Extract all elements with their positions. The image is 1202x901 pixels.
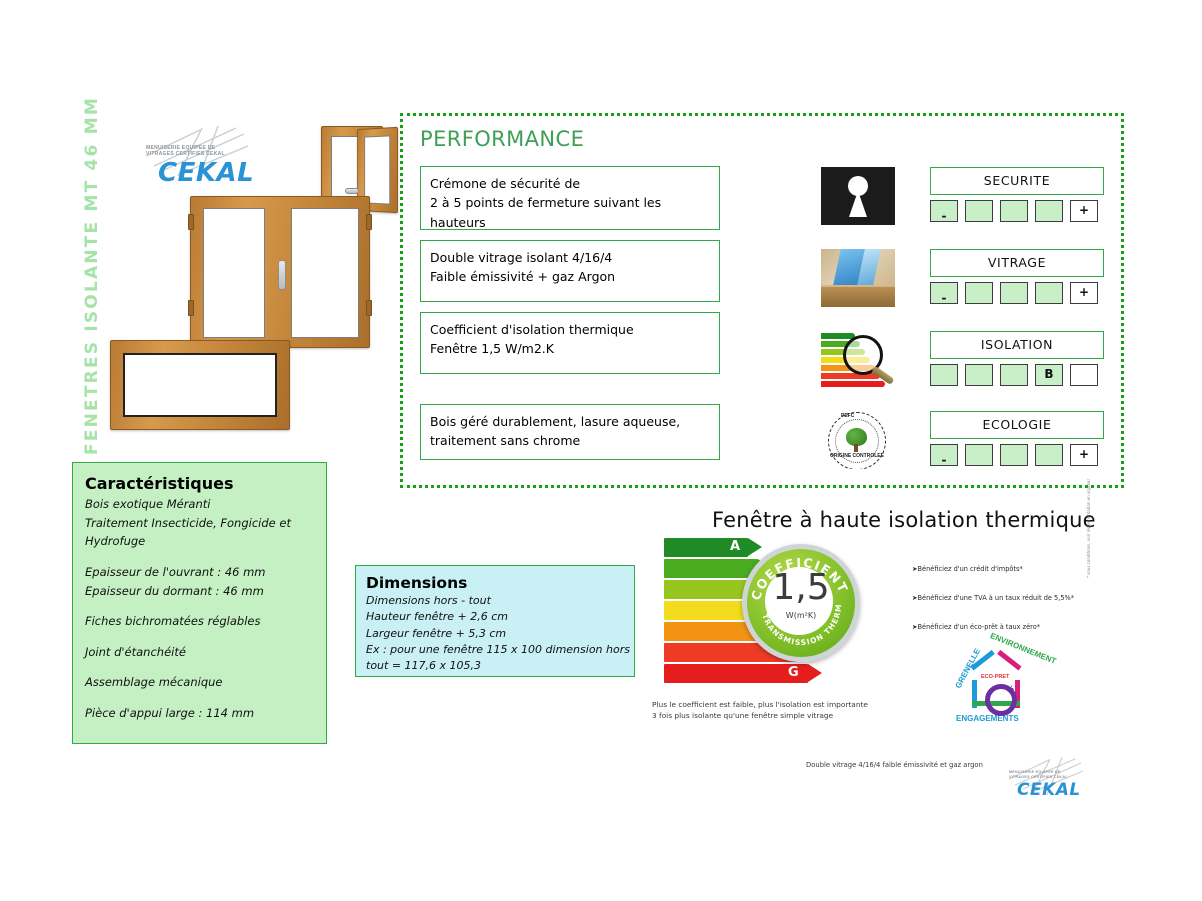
eco-pret-label: ECO-PRET <box>981 674 1009 680</box>
caracteristiques-line: Pièce d'appui large : 114 mm <box>85 704 314 723</box>
dimensions-line: Largeur fenêtre + 5,3 cm <box>366 626 624 642</box>
grenelle-environnement-badge-icon: GRENELLE ENVIRONNEMENT ENGAGEMENTS ECO-P… <box>948 646 1044 732</box>
rating-cell[interactable] <box>1035 444 1063 466</box>
legal-footnote-vertical: * sous conditions, voir réglementation e… <box>1086 479 1091 578</box>
performance-title: PERFORMANCE <box>420 127 584 151</box>
performance-box-2-line-2: Faible émissivité + gaz Argon <box>430 267 710 286</box>
logo-subline-1: MENUISERIE EQUIPEE DE <box>1009 770 1061 774</box>
eco-tree-badge-icon: PEFC ORIGINE CONTROLEE <box>821 411 895 469</box>
caracteristiques-line: Bois exotique Méranti <box>85 495 314 514</box>
logo-subline-1: MENUISERIE EQUIPEE DE <box>146 145 215 151</box>
performance-box-1: Crémone de sécurité de 2 à 5 points de f… <box>420 166 720 230</box>
performance-box-2-line-1: Double vitrage isolant 4/16/4 <box>430 248 710 267</box>
caracteristiques-line: Assemblage mécanique <box>85 673 314 692</box>
dimensions-line: Hauteur fenêtre + 2,6 cm <box>366 609 624 625</box>
logo-wordmark: CEKAL <box>1017 780 1081 800</box>
caracteristiques-line: Fiches bichromatées réglables <box>85 612 314 631</box>
performance-box-3-line-1: Coefficient d'isolation thermique <box>430 320 710 339</box>
cekal-logo-top: MENUISERIE EQUIPEE DE VITRAGES CERTIFIES… <box>140 126 250 188</box>
vertical-product-title-text: FENETRES ISOLANTE MT 46 MM <box>82 115 102 455</box>
performance-box-1-line-1: Crémone de sécurité de <box>430 174 710 193</box>
rating-cell[interactable] <box>930 364 958 386</box>
rating-cell[interactable] <box>1000 444 1028 466</box>
lock-icon <box>821 167 895 225</box>
performance-box-2: Double vitrage isolant 4/16/4 Faible émi… <box>420 240 720 302</box>
rating-cell[interactable] <box>965 364 993 386</box>
rating-cell[interactable] <box>965 282 993 304</box>
energy-caption: Plus le coefficient est faible, plus l'i… <box>652 699 868 721</box>
performance-box-4: Bois géré durablement, lasure aqueuse, t… <box>420 404 720 460</box>
window-handle-small <box>345 188 359 194</box>
performance-box-3: Coefficient d'isolation thermique Fenêtr… <box>420 312 720 374</box>
energy-magnifier-icon <box>821 331 895 389</box>
benefit-item: ➤Bénéficiez d'un crédit d'impôts* <box>912 565 1074 575</box>
window-photo-transom <box>110 340 290 430</box>
window-hinge-right-bottom <box>366 300 372 316</box>
caracteristiques-card: Caractéristiques Bois exotique Méranti T… <box>72 462 327 744</box>
rating-cell[interactable]: - <box>930 444 958 466</box>
rating-cell[interactable]: - <box>930 282 958 304</box>
coefficient-magnifier: COEFFICIENT TRANSMISSION THERMIQUE 1,5 W… <box>742 544 860 662</box>
coefficient-value: 1,5 <box>747 567 855 608</box>
dimensions-line: Dimensions hors - tout <box>366 593 624 609</box>
rating-cell[interactable] <box>965 444 993 466</box>
performance-box-4-line-2: traitement sans chrome <box>430 431 710 450</box>
rating-isolation-cells[interactable]: B <box>930 364 1098 386</box>
rating-cell[interactable] <box>965 200 993 222</box>
performance-panel: PERFORMANCE Crémone de sécurité de 2 à 5… <box>400 113 1124 488</box>
dimensions-line: tout = 117,6 x 105,3 <box>366 658 624 674</box>
grenelle-word-bottom: ENGAGEMENTS <box>956 714 1019 723</box>
performance-box-4-line-1: Bois géré durablement, lasure aqueuse, <box>430 412 710 431</box>
cekal-logo-bottom: MENUISERIE EQUIPEE DE VITRAGES CERTIFIES… <box>1005 757 1085 801</box>
dimensions-title: Dimensions <box>366 574 624 592</box>
caracteristiques-line: Epaisseur du dormant : 46 mm <box>85 582 314 601</box>
rating-vitrage-cells[interactable]: - + <box>930 282 1098 304</box>
performance-box-1-line-2: 2 à 5 points de fermeture suivant les <box>430 193 710 212</box>
energy-caption-line-1: Plus le coefficient est faible, plus l'i… <box>652 699 868 710</box>
energy-bar-letter: G <box>788 665 799 680</box>
window-hinge-bottom <box>188 300 194 316</box>
rating-securite-cells[interactable]: - + <box>930 200 1098 222</box>
energy-bar-letter: A <box>730 539 740 554</box>
caracteristiques-line: Traitement Insecticide, Fongicide et <box>85 514 314 533</box>
rating-ecologie-label: ECOLOGIE <box>930 411 1104 439</box>
caracteristiques-line: Epaisseur de l'ouvrant : 46 mm <box>85 563 314 582</box>
caracteristiques-title: Caractéristiques <box>85 474 314 493</box>
window-hinge-top <box>188 214 194 230</box>
rating-cell[interactable] <box>1000 364 1028 386</box>
performance-box-1-line-3: hauteurs <box>430 213 710 232</box>
rating-cell[interactable]: + <box>1070 444 1098 466</box>
rating-isolation-label: ISOLATION <box>930 331 1104 359</box>
rating-cell-b[interactable]: B <box>1035 364 1063 386</box>
caracteristiques-line: Joint d'étanchéité <box>85 643 314 662</box>
energy-section-title: Fenêtre à haute isolation thermique <box>712 508 1096 532</box>
bottom-caption: Double vitrage 4/16/4 faible émissivité … <box>806 761 983 769</box>
rating-ecologie-cells[interactable]: - + <box>930 444 1098 466</box>
logo-wordmark: CEKAL <box>158 158 254 188</box>
window-handle-main <box>278 260 286 290</box>
rating-cell[interactable] <box>1000 282 1028 304</box>
glazing-icon <box>821 249 895 307</box>
performance-box-3-line-2: Fenêtre 1,5 W/m2.K <box>430 339 710 358</box>
rating-securite-label: SECURITE <box>930 167 1104 195</box>
rating-cell[interactable]: + <box>1070 200 1098 222</box>
rating-cell[interactable] <box>1035 282 1063 304</box>
caracteristiques-line: Hydrofuge <box>85 532 314 551</box>
rating-cell[interactable]: + <box>1070 282 1098 304</box>
dimensions-line: Ex : pour une fenêtre 115 x 100 dimensio… <box>366 642 624 658</box>
dimensions-card: Dimensions Dimensions hors - tout Hauteu… <box>355 565 635 677</box>
rating-cell[interactable] <box>1070 364 1098 386</box>
window-hinge-right-top <box>366 214 372 230</box>
benefit-item: ➤Bénéficiez d'une TVA à un taux réduit d… <box>912 594 1074 604</box>
logo-subline-2: VITRAGES CERTIFIES CEKAL <box>146 151 225 157</box>
rating-vitrage-label: VITRAGE <box>930 249 1104 277</box>
rating-cell[interactable] <box>1035 200 1063 222</box>
energy-caption-line-2: 3 fois plus isolante qu'une fenêtre simp… <box>652 710 868 721</box>
energy-bar-g: G <box>664 664 822 683</box>
vertical-product-title: FENETRES ISOLANTE MT 46 MM <box>60 120 100 470</box>
energy-label-chart: A F G <box>664 538 844 698</box>
grenelle-percent: % <box>1006 684 1014 694</box>
rating-cell[interactable]: - <box>930 200 958 222</box>
rating-cell[interactable] <box>1000 200 1028 222</box>
datasheet-page: FENETRES ISOLANTE MT 46 MM MENUISERIE EQ… <box>0 0 1202 901</box>
coefficient-unit: W(m²K) <box>747 611 855 620</box>
